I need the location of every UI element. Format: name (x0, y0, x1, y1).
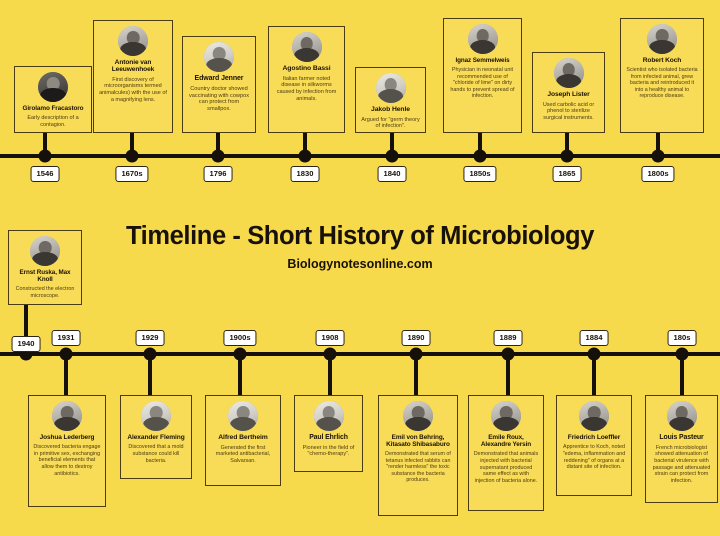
event-description: Italian farmer noted disease in silkworm… (273, 76, 340, 103)
timeline-date-chip[interactable]: 1546 (31, 166, 60, 182)
portrait-image (647, 24, 677, 54)
event-description: Discovered bacteria engage in primitive … (33, 444, 101, 477)
event-person-name: Robert Koch (643, 57, 681, 64)
event-description: French microbiologist showed attenuation… (650, 445, 713, 485)
timeline-event-card[interactable]: Friedrich LoefflerApprentice to Koch, no… (556, 395, 632, 496)
timeline-dot[interactable] (386, 150, 399, 163)
timeline-date-chip[interactable]: 1940 (12, 336, 41, 352)
portrait-image (491, 401, 521, 431)
timeline-dot[interactable] (652, 150, 665, 163)
event-description: First discovery of microorganisms termed… (98, 77, 168, 104)
portrait-image (403, 401, 433, 431)
portrait-image (468, 24, 498, 54)
event-description: Scientist who isolated bacteria from inf… (625, 67, 699, 99)
timeline-event-card[interactable]: Agostino BassiItalian farmer noted disea… (268, 26, 345, 133)
event-person-name: Alfred Bertheim (218, 434, 268, 442)
event-description: Generated the first marketed antibacteri… (210, 445, 276, 465)
event-description: Demonstrated that animals injected with … (473, 451, 539, 484)
timeline-dot[interactable] (234, 348, 247, 361)
event-person-name: Ernst Ruska, Max Knoll (13, 269, 77, 283)
event-description: Physician in neonatal unit recommended u… (448, 67, 517, 100)
timeline-event-card[interactable]: Emil von Behring, Kitasato ShibasaburoDe… (378, 395, 458, 516)
portrait-image (579, 401, 609, 431)
timeline-event-card[interactable]: Alexander FlemingDiscovered that a mold … (120, 395, 192, 479)
timeline-dot[interactable] (588, 348, 601, 361)
top-timeline-rail (0, 154, 720, 158)
timeline-date-chip[interactable]: 1900s (223, 330, 256, 346)
timeline-date-chip[interactable]: 1908 (316, 330, 345, 346)
timeline-event-card[interactable]: Louis PasteurFrench microbiologist showe… (645, 395, 718, 503)
timeline-infographic: Girolamo FracastoroEarly description of … (0, 0, 720, 536)
portrait-image (30, 236, 60, 266)
event-person-name: Girolamo Fracastoro (23, 105, 84, 112)
timeline-event-card[interactable]: Robert KochScientist who isolated bacter… (620, 18, 704, 133)
timeline-date-chip[interactable]: 1800s (641, 166, 674, 182)
timeline-date-chip[interactable]: 1830 (291, 166, 320, 182)
timeline-dot[interactable] (126, 150, 139, 163)
timeline-date-chip[interactable]: 1929 (136, 330, 165, 346)
page-subtitle: Biologynotesonline.com (0, 258, 720, 271)
timeline-dot[interactable] (299, 150, 312, 163)
event-description: Constructed the electron microscope. (13, 286, 77, 299)
timeline-dot[interactable] (324, 348, 337, 361)
page-title: Timeline - Short History of Microbiology (0, 224, 720, 250)
event-person-name: Jakob Henle (371, 106, 410, 114)
event-person-name: Alexander Fleming (127, 434, 184, 441)
timeline-date-chip[interactable]: 1889 (494, 330, 523, 346)
event-person-name: Ignaz Semmelweis (455, 57, 509, 64)
timeline-dot[interactable] (474, 150, 487, 163)
timeline-dot[interactable] (60, 348, 73, 361)
timeline-event-card[interactable]: Joseph ListerUsed carbolic acid or pheno… (532, 52, 605, 133)
event-description: Pioneer in the field of "chemo-therapy". (299, 445, 358, 458)
event-person-name: Antonie van Leeuwenhoek (98, 59, 168, 74)
event-description: Discovered that a mold substance could k… (125, 444, 187, 464)
portrait-image (52, 401, 82, 431)
event-description: Argued for "germ theory of infection". (360, 117, 421, 130)
timeline-dot[interactable] (410, 348, 423, 361)
event-person-name: Emil von Behring, Kitasato Shibasaburo (383, 434, 453, 448)
timeline-date-chip[interactable]: 1890 (402, 330, 431, 346)
portrait-image (554, 58, 584, 88)
event-description: Country doctor showed vaccinating with c… (187, 86, 251, 113)
bottom-timeline-rail (0, 352, 720, 356)
timeline-date-chip[interactable]: 1840 (378, 166, 407, 182)
timeline-dot[interactable] (39, 150, 52, 163)
timeline-date-chip[interactable]: 1865 (553, 166, 582, 182)
event-person-name: Paul Ehrlich (309, 434, 348, 442)
event-person-name: Agostino Bassi (282, 65, 330, 73)
timeline-event-card[interactable]: Joshua LederbergDiscovered bacteria enga… (28, 395, 106, 507)
timeline-date-chip[interactable]: 1931 (52, 330, 81, 346)
timeline-dot[interactable] (561, 150, 574, 163)
event-description: Early description of a contagion. (19, 115, 87, 128)
timeline-date-chip[interactable]: 180s (668, 330, 697, 346)
portrait-image (38, 72, 68, 102)
timeline-event-card[interactable]: Ignaz SemmelweisPhysician in neonatal un… (443, 18, 522, 133)
timeline-dot[interactable] (502, 348, 515, 361)
timeline-date-chip[interactable]: 1796 (204, 166, 233, 182)
event-description: Used carbolic acid or phenol to steriliz… (537, 102, 600, 122)
timeline-date-chip[interactable]: 1884 (580, 330, 609, 346)
portrait-image (292, 32, 322, 62)
event-person-name: Joshua Lederberg (40, 434, 95, 441)
timeline-event-card[interactable]: Emile Roux, Alexandre YersinDemonstrated… (468, 395, 544, 511)
portrait-image (314, 401, 344, 431)
timeline-dot[interactable] (144, 348, 157, 361)
event-description: Demonstrated that serum of tetanus infec… (383, 451, 453, 483)
event-person-name: Joseph Lister (547, 91, 589, 99)
timeline-date-chip[interactable]: 1850s (463, 166, 496, 182)
timeline-event-card[interactable]: Girolamo FracastoroEarly description of … (14, 66, 92, 133)
timeline-event-card[interactable]: Paul EhrlichPioneer in the field of "che… (294, 395, 363, 472)
timeline-event-card[interactable]: Jakob HenleArgued for "germ theory of in… (355, 67, 426, 133)
timeline-event-card[interactable]: Edward JennerCountry doctor showed vacci… (182, 36, 256, 133)
title-block: Timeline - Short History of Microbiology… (0, 224, 720, 270)
timeline-event-card[interactable]: Antonie van LeeuwenhoekFirst discovery o… (93, 20, 173, 133)
portrait-image (204, 42, 234, 72)
timeline-dot[interactable] (676, 348, 689, 361)
portrait-image (376, 73, 406, 103)
event-person-name: Edward Jenner (195, 75, 244, 83)
portrait-image (118, 26, 148, 56)
event-person-name: Friedrich Loeffler (568, 434, 620, 441)
event-person-name: Emile Roux, Alexandre Yersin (473, 434, 539, 448)
timeline-event-card[interactable]: Alfred BertheimGenerated the first marke… (205, 395, 281, 486)
event-person-name: Louis Pasteur (659, 434, 703, 442)
portrait-image (141, 401, 171, 431)
portrait-image (667, 401, 697, 431)
timeline-date-chip[interactable]: 1670s (115, 166, 148, 182)
event-description: Apprentice to Koch, noted "edema, inflam… (561, 444, 627, 470)
timeline-dot[interactable] (212, 150, 225, 163)
timeline-event-card[interactable]: Ernst Ruska, Max KnollConstructed the el… (8, 230, 82, 305)
portrait-image (228, 401, 258, 431)
